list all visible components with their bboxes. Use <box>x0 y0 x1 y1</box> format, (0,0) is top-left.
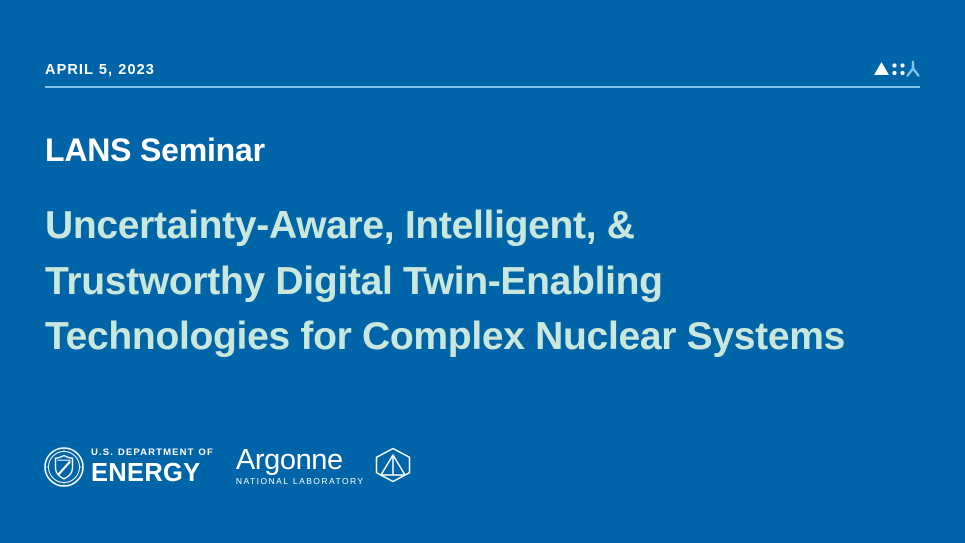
slide-header: APRIL 5, 2023 <box>45 60 920 94</box>
header-divider <box>45 86 920 88</box>
doe-department-line: U.S. DEPARTMENT OF <box>91 448 214 458</box>
doe-logo: U.S. DEPARTMENT OF ENERGY <box>44 446 214 488</box>
argonne-dots-mark-icon <box>864 58 920 80</box>
slide-date: APRIL 5, 2023 <box>45 60 155 80</box>
argonne-wordmark: Argonne NATIONAL LABORATORY <box>236 444 365 487</box>
logo-strip: U.S. DEPARTMENT OF ENERGY Argonne NATION… <box>44 441 415 493</box>
doe-energy-label: ENERGY <box>91 460 214 486</box>
doe-seal-icon <box>44 447 84 487</box>
doe-wordmark: U.S. DEPARTMENT OF ENERGY <box>91 448 214 486</box>
title-slide: APRIL 5, 2023 LANS Seminar Unce <box>0 0 965 543</box>
page-title: Uncertainty-Aware, Intelligent, & Trustw… <box>45 198 845 365</box>
argonne-name-label: Argonne <box>236 444 365 476</box>
argonne-subtitle-label: NATIONAL LABORATORY <box>236 476 365 487</box>
argonne-logo: Argonne NATIONAL LABORATORY <box>236 442 415 492</box>
argonne-hexagon-mark-icon <box>371 446 415 484</box>
slide-eyebrow: LANS Seminar <box>45 128 265 172</box>
